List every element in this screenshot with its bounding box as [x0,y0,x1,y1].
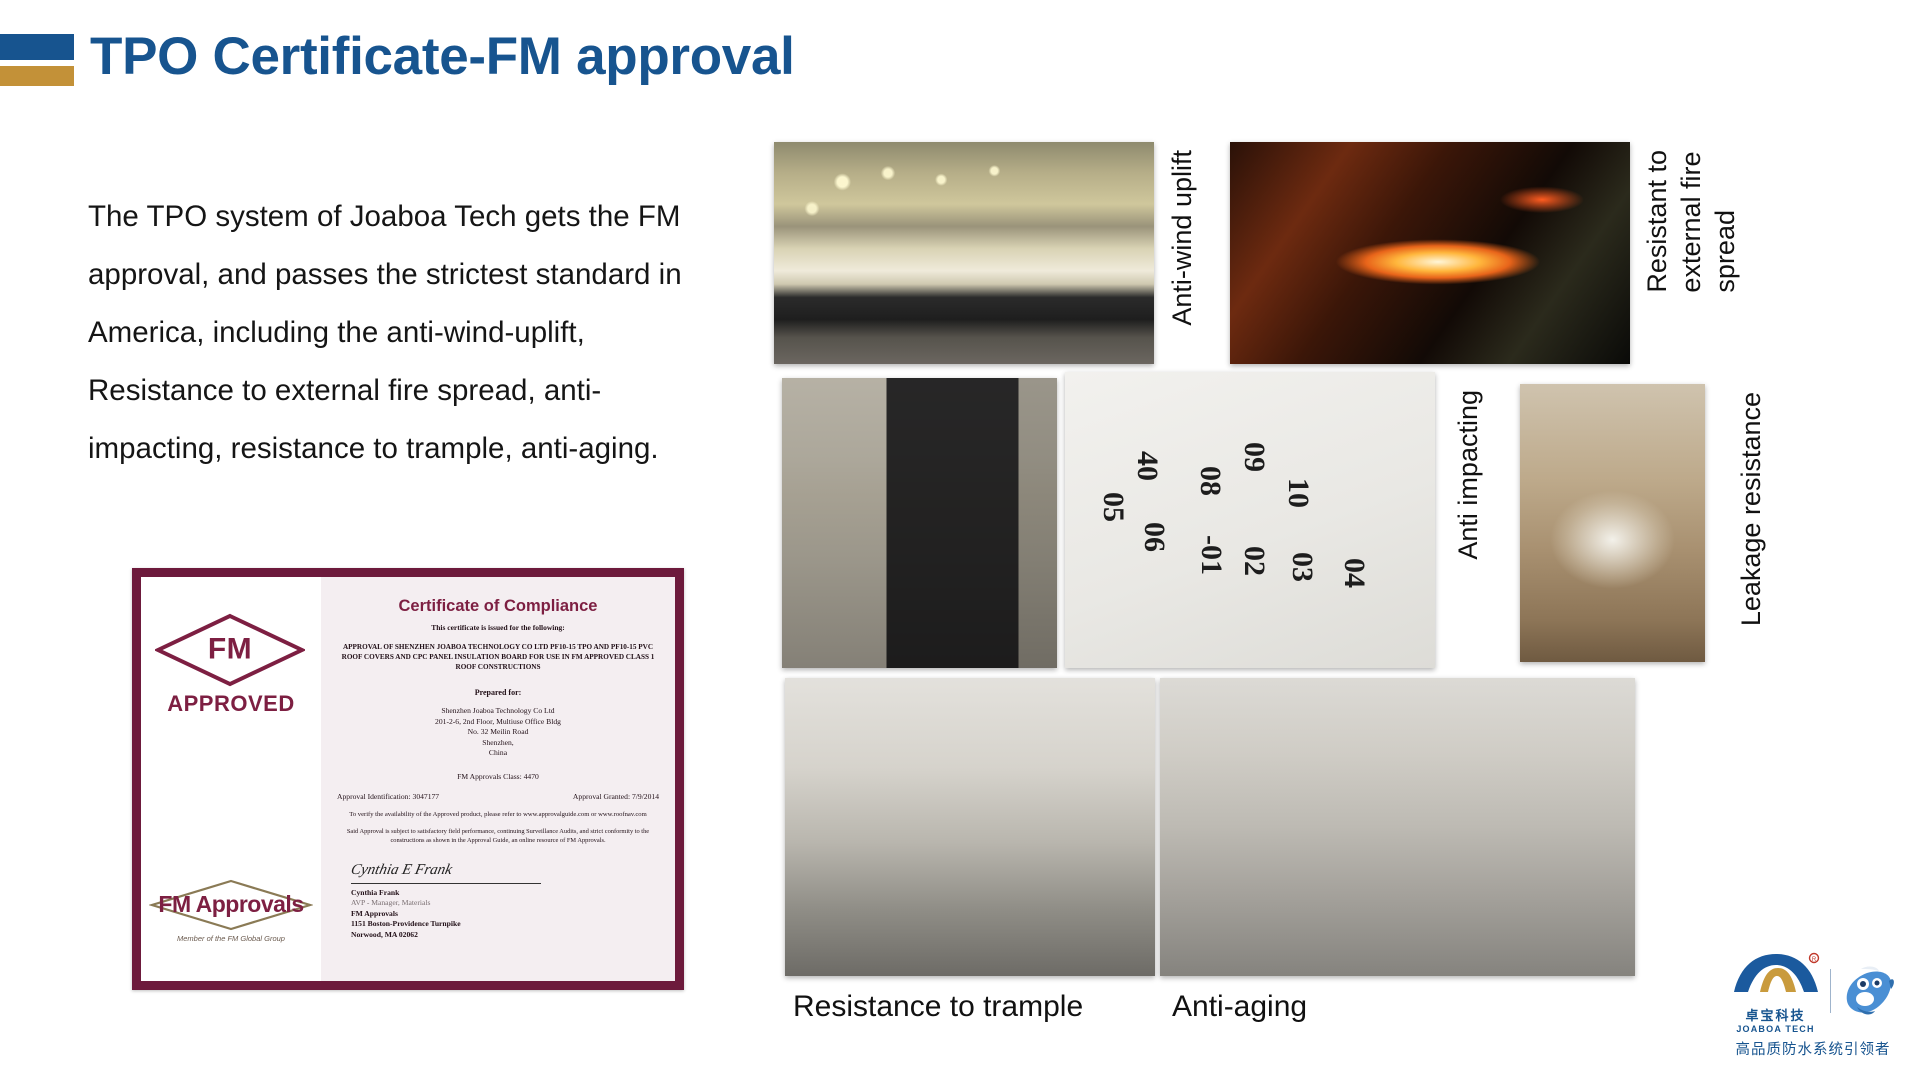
fm-diamond-icon: FM [155,613,305,687]
whiteboard-mark: 40 [1130,451,1164,481]
title-accent-gold-bar [0,66,74,86]
brand-divider [1830,969,1831,1013]
whiteboard-mark: -01 [1194,535,1228,575]
title-accent-marks [0,34,74,86]
certificate-signature-block: Cynthia E Frank Cynthia Frank AVP - Mana… [351,861,663,941]
signer-title: AVP - Manager, Materials [351,898,663,909]
photo-leakage-resistance [1520,384,1705,662]
certificate-body-panel: Certificate of Compliance This certifica… [321,577,675,981]
certificate-approval-granted-value: 7/9/2014 [632,792,659,801]
certificate-approval-id-label: Approval Identification: [337,792,411,801]
certificate-approval-granted: Approval Granted: 7/9/2014 [573,792,659,801]
signer-name: Cynthia Frank [351,888,663,899]
whiteboard-mark: 04 [1337,558,1371,588]
body-paragraph: The TPO system of Joaboa Tech gets the F… [88,188,728,478]
whiteboard-mark: 10 [1281,478,1315,508]
dolphin-mascot-icon [1839,963,1897,1019]
certificate-class-line: FM Approvals Class: 4470 [333,772,663,781]
certificate-approval-scope: APPROVAL OF SHENZHEN JOABOA TECHNOLOGY C… [333,642,663,672]
brand-logo-row: R 卓宝科技 JOABOA TECH [1718,948,1908,1034]
photo-resistance-to-trample [785,678,1155,976]
brand-name-en: JOABOA TECH [1730,1024,1822,1034]
certificate-approval-id-value: 3047177 [413,792,440,801]
fm-approvals-diamond-icon: FM Approvals [149,879,313,931]
certificate-address: Shenzhen Joaboa Technology Co Ltd 201-2-… [333,706,663,759]
fm-certificate-image: FM APPROVED FM Approvals Member of the F… [132,568,684,990]
brand-tagline: 高品质防水系统引领者 [1718,1038,1908,1059]
whiteboard-mark: 02 [1237,546,1271,576]
caption-anti-wind-uplift: Anti-wind uplift [1166,150,1198,326]
photo-anti-aging [1160,678,1635,976]
fm-mark-label: FM [155,632,305,666]
whiteboard-mark: 05 [1096,492,1130,522]
signer-address-line2: Norwood, MA 02062 [351,930,663,941]
fm-approvals-subtext: Member of the FM Global Group [149,934,313,943]
certificate-subject-line: Said Approval is subject to satisfactory… [333,827,663,845]
page-title: TPO Certificate-FM approval [90,26,795,87]
caption-anti-impacting: Anti impacting [1452,390,1484,560]
photo-impact-whiteboard: 40 05 06 08 09 -01 02 10 03 04 [1065,372,1435,668]
whiteboard-mark: 06 [1137,522,1171,552]
signature-rule [351,883,541,884]
fm-approved-mark: FM APPROVED [155,613,307,717]
signature-script: Cynthia E Frank [349,862,453,879]
certificate-approval-granted-label: Approval Granted: [573,792,630,801]
caption-anti-aging: Anti-aging [1172,990,1307,1024]
fm-approved-label: APPROVED [155,691,307,717]
certificate-prepared-for-label: Prepared for: [333,688,663,697]
svg-text:R: R [1811,957,1816,963]
certificate-issued-line: This certificate is issued for the follo… [333,623,663,632]
caption-resistance-to-trample: Resistance to trample [793,990,1083,1024]
whiteboard-marks: 40 05 06 08 09 -01 02 10 03 04 [1065,372,1435,668]
caption-leakage-resistance: Leakage resistance [1735,392,1767,626]
brand-logo: R 卓宝科技 JOABOA TECH 高品质防水系统引领者 [1718,948,1908,1059]
photo-anti-wind-uplift [774,142,1154,364]
certificate-id-row: Approval Identification: 3047177 Approva… [333,792,663,801]
signer-details: Cynthia Frank AVP - Manager, Materials F… [351,888,663,941]
photo-external-fire-spread [1230,142,1630,364]
caption-external-fire-spread: Resistant to external fire spread [1640,150,1742,293]
certificate-verify-line: To verify the availability of the Approv… [333,811,663,818]
whiteboard-mark: 03 [1285,552,1319,582]
certificate-heading: Certificate of Compliance [333,597,663,616]
whiteboard-mark: 08 [1193,466,1227,496]
whiteboard-mark: 09 [1237,442,1271,472]
fm-approvals-logo: FM Approvals Member of the FM Global Gro… [149,879,313,943]
photo-impact-test-door [782,378,1057,668]
certificate-approval-id: Approval Identification: 3047177 [337,792,439,801]
title-accent-blue-bar [0,34,74,60]
signer-address-line1: 1151 Boston-Providence Turnpike [351,919,663,930]
brand-mark-column: R 卓宝科技 JOABOA TECH [1730,948,1822,1034]
brand-name-cn: 卓宝科技 [1730,1005,1822,1024]
fm-approvals-wordmark: FM Approvals [149,891,313,918]
certificate-left-panel: FM APPROVED FM Approvals Member of the F… [141,577,321,981]
joaboa-emblem-icon: R [1730,948,1822,1004]
signer-org: FM Approvals [351,909,663,920]
